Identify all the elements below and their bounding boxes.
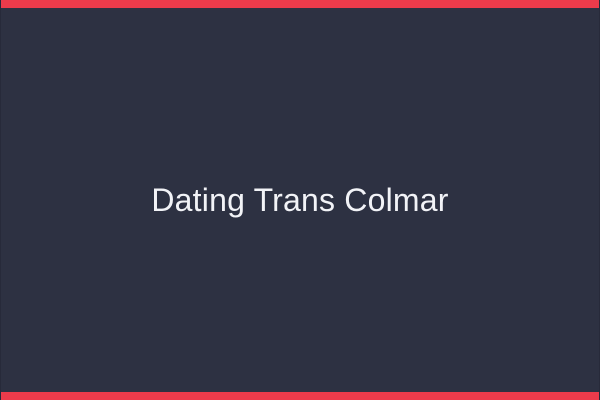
placeholder-banner: Dating Trans Colmar: [0, 0, 600, 400]
bottom-accent-bar: [1, 392, 599, 400]
banner-caption-area: Dating Trans Colmar: [1, 181, 599, 219]
banner-title: Dating Trans Colmar: [25, 181, 575, 219]
top-accent-bar: [1, 0, 599, 8]
